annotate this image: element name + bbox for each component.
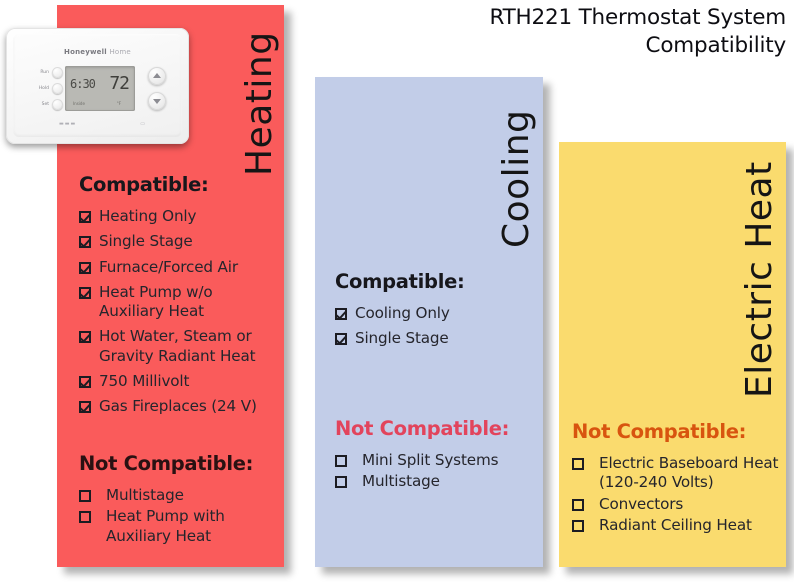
list-item-label: Single Stage (99, 232, 269, 251)
list-item: 750 Millivolt (79, 372, 269, 391)
heating-compatible-heading: Compatible: (79, 173, 269, 196)
down-arrow-icon[interactable] (148, 92, 166, 110)
thermostat-run-button[interactable]: Run (35, 67, 63, 78)
list-item: Convectors (572, 495, 782, 514)
list-item: Radiant Ceiling Heat (572, 516, 782, 535)
title-line-2: Compatibility (646, 33, 786, 58)
heating-not-compatible-section: Not Compatible: Multistage Heat Pump wit… (79, 452, 274, 548)
set-label: Set (35, 102, 49, 107)
hold-button-dot[interactable] (52, 83, 63, 94)
checkbox-empty-icon (335, 476, 347, 488)
checkbox-empty-icon (335, 455, 347, 467)
cooling-compatible-heading: Compatible: (335, 270, 535, 293)
title-line-1: RTH221 Thermostat System (489, 5, 786, 30)
column-cooling-title: Cooling (496, 83, 537, 248)
list-item-label: Single Stage (355, 329, 535, 348)
list-item-label: Hot Water, Steam or Gravity Radiant Heat (99, 327, 269, 366)
list-item-label: Heat Pump w/o Auxiliary Heat (99, 283, 269, 322)
list-item: Cooling Only (335, 304, 535, 323)
run-label: Run (35, 70, 49, 75)
list-item-label: Multistage (362, 472, 540, 491)
checkbox-empty-icon (79, 490, 91, 502)
thermostat-device-image: Honeywell Home Run Hold Set 6:30 (6, 28, 189, 144)
list-item-label: Heat Pump with Auxiliary Heat (106, 507, 274, 546)
cooling-not-compatible-heading: Not Compatible: (335, 417, 540, 440)
thermostat-mode-buttons: Run Hold Set (35, 67, 63, 115)
checkbox-empty-icon (79, 511, 91, 523)
thermostat-bottom-mark-left: ▬▬▬ (59, 121, 76, 127)
thermostat-faceplate: Honeywell Home Run Hold Set 6:30 (13, 34, 182, 137)
list-item: Mini Split Systems (335, 451, 540, 470)
lcd-time-value: 6:30 (70, 77, 95, 91)
checkbox-checked-icon (79, 401, 91, 413)
list-item: Heat Pump w/o Auxiliary Heat (79, 283, 269, 322)
checkbox-checked-icon (79, 236, 91, 248)
cooling-compatible-section: Compatible: Cooling Only Single Stage (335, 270, 535, 355)
heating-compatible-list: Heating Only Single Stage Furnace/Forced… (79, 207, 269, 417)
list-item: Hot Water, Steam or Gravity Radiant Heat (79, 327, 269, 366)
page-title: RTH221 Thermostat System Compatibility (386, 4, 786, 61)
electric-not-compatible-section: Not Compatible: Electric Baseboard Heat … (572, 420, 782, 537)
cooling-not-compatible-list: Mini Split Systems Multistage (335, 451, 540, 492)
list-item: Multistage (335, 472, 540, 491)
checkbox-empty-icon (572, 499, 584, 511)
heating-compatible-section: Compatible: Heating Only Single Stage Fu… (79, 173, 269, 423)
lcd-right-label: °F (117, 101, 121, 106)
cooling-not-compatible-section: Not Compatible: Mini Split Systems Multi… (335, 417, 540, 494)
cooling-compatible-list: Cooling Only Single Stage (335, 304, 535, 349)
heating-not-compatible-heading: Not Compatible: (79, 452, 274, 475)
checkbox-checked-icon (335, 333, 347, 345)
list-item: Single Stage (79, 232, 269, 251)
list-item: Multistage (79, 486, 274, 505)
checkbox-checked-icon (79, 211, 91, 223)
checkbox-checked-icon (335, 308, 347, 320)
set-button-dot[interactable] (52, 99, 63, 110)
thermostat-hold-button[interactable]: Hold (35, 83, 63, 94)
list-item-label: Gas Fireplaces (24 V) (99, 397, 269, 416)
checkbox-checked-icon (79, 331, 91, 343)
list-item: Single Stage (335, 329, 535, 348)
thermostat-bottom-mark-right: ▭ (140, 121, 146, 127)
list-item-label: Furnace/Forced Air (99, 258, 269, 277)
list-item-label: Convectors (599, 495, 782, 514)
list-item: Gas Fireplaces (24 V) (79, 397, 269, 416)
thermostat-brand-logo: Honeywell Home (13, 48, 182, 56)
thermostat-set-button[interactable]: Set (35, 99, 63, 110)
list-item-label: Cooling Only (355, 304, 535, 323)
heating-not-compatible-list: Multistage Heat Pump with Auxiliary Heat (79, 486, 274, 546)
list-item-label: Electric Baseboard Heat (120-240 Volts) (599, 454, 782, 493)
infographic-canvas: RTH221 Thermostat System Compatibility H… (0, 0, 794, 584)
brand-name: Honeywell (64, 48, 107, 56)
electric-not-compatible-heading: Not Compatible: (572, 420, 782, 443)
run-button-dot[interactable] (52, 67, 63, 78)
brand-sub: Home (109, 48, 130, 56)
lcd-temperature-value: 72 (109, 73, 129, 94)
hold-label: Hold (35, 86, 49, 91)
checkbox-checked-icon (79, 287, 91, 299)
list-item-label: Multistage (106, 486, 274, 505)
checkbox-checked-icon (79, 376, 91, 388)
checkbox-checked-icon (79, 262, 91, 274)
up-arrow-icon[interactable] (148, 67, 166, 85)
list-item: Electric Baseboard Heat (120-240 Volts) (572, 454, 782, 493)
checkbox-empty-icon (572, 458, 584, 470)
list-item-label: Mini Split Systems (362, 451, 540, 470)
column-electric-heat-title: Electric Heat (739, 148, 780, 398)
thermostat-lcd-screen: 6:30 72 Inside °F (65, 66, 135, 111)
list-item-label: Heating Only (99, 207, 269, 226)
column-heating-title: Heating (239, 11, 280, 176)
electric-not-compatible-list: Electric Baseboard Heat (120-240 Volts) … (572, 454, 782, 535)
column-cooling: Cooling Compatible: Cooling Only Single … (315, 77, 543, 567)
list-item-label: Radiant Ceiling Heat (599, 516, 782, 535)
column-electric-heat: Electric Heat Not Compatible: Electric B… (559, 142, 786, 567)
checkbox-empty-icon (572, 520, 584, 532)
list-item-label: 750 Millivolt (99, 372, 269, 391)
lcd-left-label: Inside (73, 101, 85, 106)
list-item: Heat Pump with Auxiliary Heat (79, 507, 274, 546)
thermostat-arrow-buttons (148, 67, 166, 117)
list-item: Furnace/Forced Air (79, 258, 269, 277)
list-item: Heating Only (79, 207, 269, 226)
